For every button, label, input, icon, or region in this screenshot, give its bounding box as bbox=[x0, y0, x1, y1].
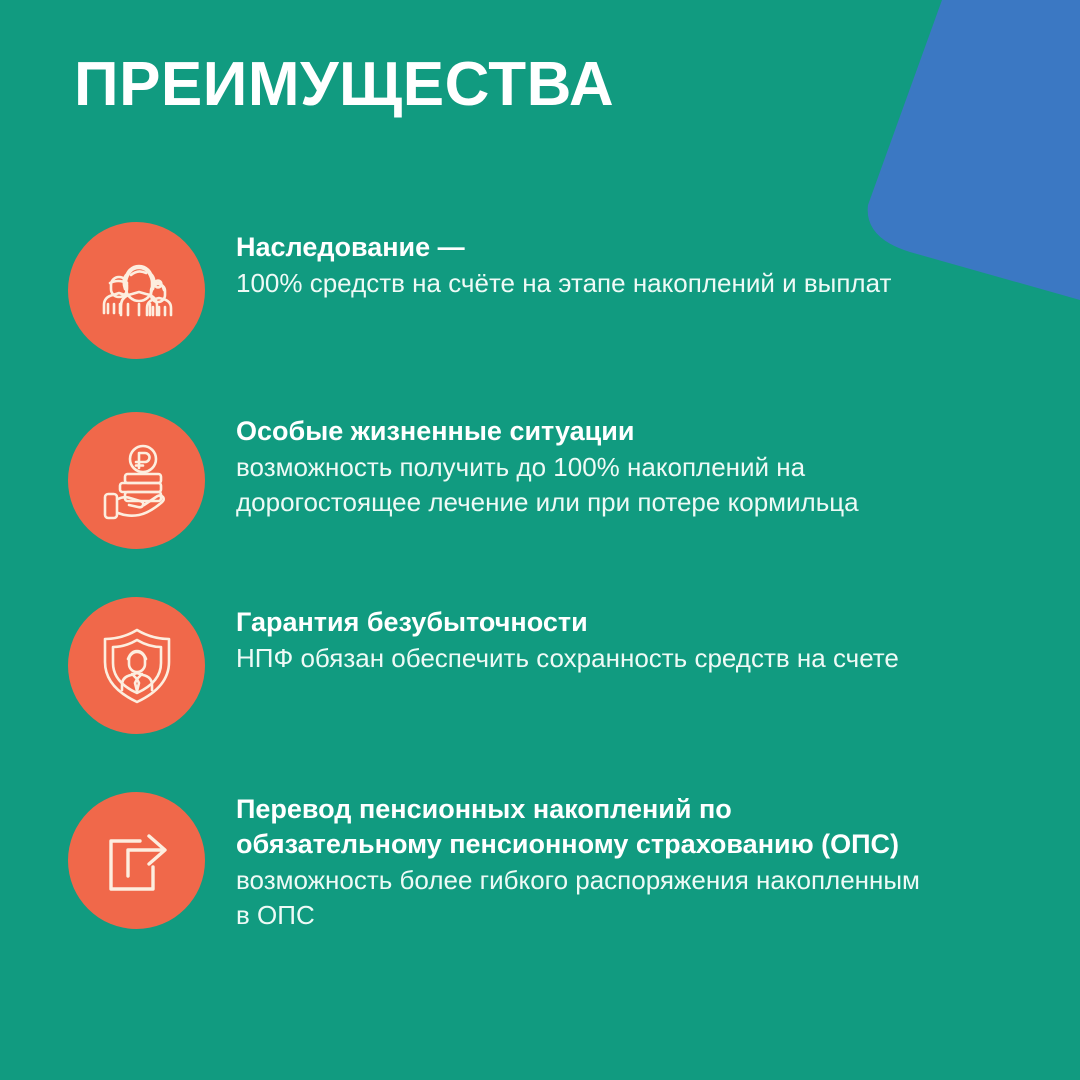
icon-circle-transfer-ops bbox=[68, 792, 205, 929]
benefit-heading: Наследование — bbox=[236, 230, 891, 265]
page-title: ПРЕИМУЩЕСТВА bbox=[74, 52, 614, 117]
benefit-text-break-even-guarantee: Гарантия безубыточности НПФ обязан обесп… bbox=[236, 597, 899, 676]
benefit-item-inheritance: Наследование — 100% средств на счёте на … bbox=[68, 222, 1048, 359]
benefit-text-special-situations: Особые жизненные ситуации возможность по… bbox=[236, 412, 936, 519]
benefit-heading: Гарантия безубыточности bbox=[236, 605, 899, 640]
benefit-item-break-even-guarantee: Гарантия безубыточности НПФ обязан обесп… bbox=[68, 597, 1048, 734]
benefit-item-special-situations: Особые жизненные ситуации возможность по… bbox=[68, 412, 1048, 549]
benefit-body: НПФ обязан обеспечить сохранность средст… bbox=[236, 641, 899, 676]
benefit-text-transfer-ops: Перевод пенсионных накоплений по обязате… bbox=[236, 792, 936, 932]
benefit-heading: Особые жизненные ситуации bbox=[236, 414, 936, 449]
family-icon bbox=[95, 249, 179, 333]
infographic-poster: ПРЕИМУЩЕСТВА bbox=[0, 0, 1080, 1080]
transfer-export-arrow-icon bbox=[95, 819, 179, 903]
shield-with-person-icon bbox=[95, 624, 179, 708]
benefit-body: 100% средств на счёте на этапе накоплени… bbox=[236, 266, 891, 301]
benefit-body: возможность более гибкого распоряжения н… bbox=[236, 863, 936, 932]
icon-circle-special-situations bbox=[68, 412, 205, 549]
benefit-item-transfer-ops: Перевод пенсионных накоплений по обязате… bbox=[68, 792, 1048, 932]
benefit-body: возможность получить до 100% накоплений … bbox=[236, 450, 936, 519]
icon-circle-break-even-guarantee bbox=[68, 597, 205, 734]
hand-with-ruble-coins-icon bbox=[95, 439, 179, 523]
benefit-text-inheritance: Наследование — 100% средств на счёте на … bbox=[236, 222, 891, 301]
icon-circle-inheritance bbox=[68, 222, 205, 359]
benefit-heading: Перевод пенсионных накоплений по обязате… bbox=[236, 792, 936, 862]
